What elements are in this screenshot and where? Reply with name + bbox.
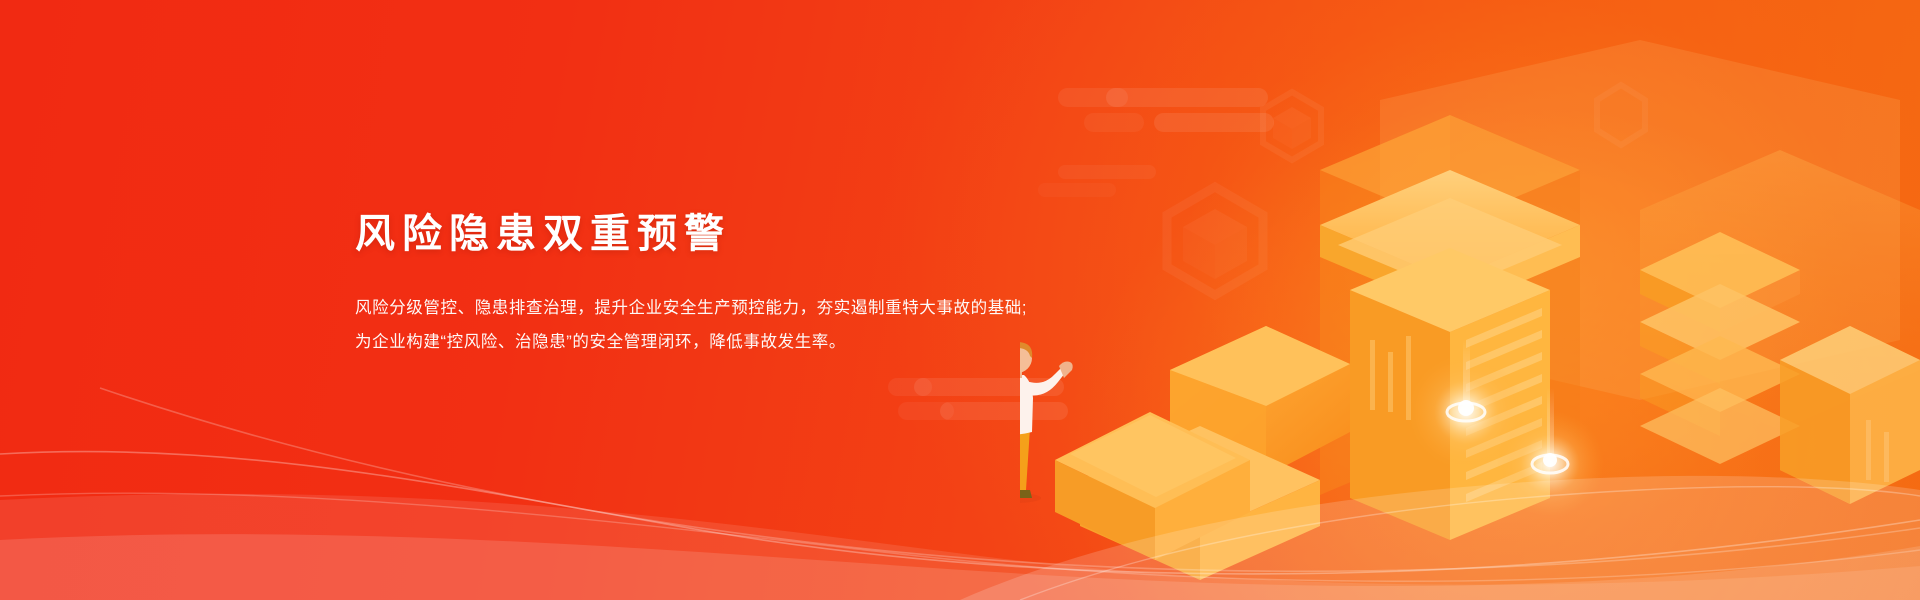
background-glow-secondary [1060, 100, 1920, 600]
hero-subtitle: 风险分级管控、隐患排查治理，提升企业安全生产预控能力，夯实遏制重特大事故的基础;… [355, 292, 1185, 360]
bottom-wave-decoration [0, 370, 1920, 600]
cloud-motif-bottom [888, 378, 1068, 433]
hero-subtitle-line-1: 风险分级管控、隐患排查治理，提升企业安全生产预控能力，夯实遏制重特大事故的基础; [355, 292, 1185, 326]
glow-orb-upper [1408, 340, 1524, 470]
hero-subtitle-line-2: 为企业构建“控风险、治隐患”的安全管理闭环，降低事故发生率。 [355, 326, 1185, 360]
foreground-box [1055, 412, 1250, 560]
decorative-hexagon-outline [1590, 80, 1652, 150]
hero-banner: 风险隐患双重预警 风险分级管控、隐患排查治理，提升企业安全生产预控能力，夯实遏制… [0, 0, 1920, 600]
cloud-motif-mid [1038, 165, 1158, 205]
decorative-cube-small [1255, 85, 1329, 167]
person-figure [1020, 342, 1073, 503]
hero-copy-block: 风险隐患双重预警 风险分级管控、隐患排查治理，提升企业安全生产预控能力，夯实遏制… [355, 210, 1185, 360]
cloud-motif-top [1058, 88, 1268, 148]
page-title: 风险隐患双重预警 [355, 210, 1185, 258]
glow-orb-lower [1496, 388, 1604, 518]
